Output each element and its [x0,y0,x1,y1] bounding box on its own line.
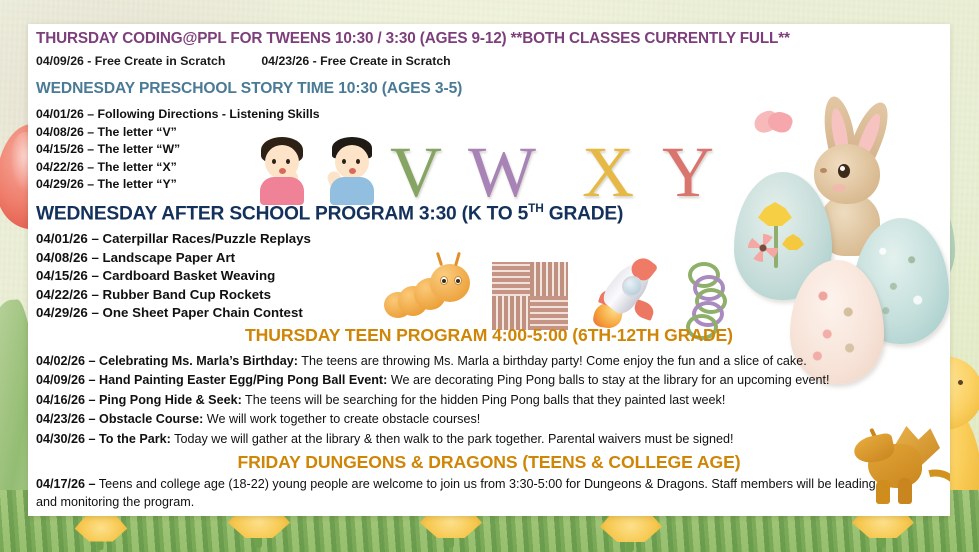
dnd-body-text: Teens and college age (18-22) young peop… [36,477,876,509]
coding-dates-row: 04/09/26 - Free Create in Scratch04/23/2… [36,54,451,68]
list-item-text: We will work together to create obstacle… [203,412,480,426]
list-item-label: 04/30/26 – To the Park: [36,432,171,446]
after-school-heading-post: GRADE) [544,203,624,224]
letter-y-glyph: Y [662,136,714,208]
flyer-content-card: THURSDAY CODING@PPL FOR TWEENS 10:30 / 3… [28,24,950,516]
section-heading-coding: THURSDAY CODING@PPL FOR TWEENS 10:30 / 3… [36,30,940,48]
list-item: 04/29/26 – One Sheet Paper Chain Contest [36,304,311,323]
list-item-label: 04/23/26 – Obstacle Course: [36,412,203,426]
bunny-eye-icon [838,164,850,178]
woven-basket-icon [492,262,568,330]
coding-date-1: 04/09/26 - Free Create in Scratch [36,54,225,68]
list-item: 04/09/26 – Hand Painting Easter Egg/Ping… [36,371,830,390]
list-item: 04/01/26 – Following Directions - Listen… [36,106,320,124]
list-item: 04/15/26 – Cardboard Basket Weaving [36,267,311,286]
alphabet-letters-illustration: V W X Y [390,136,720,208]
listening-kids-illustration [254,137,384,205]
letter-x-glyph: X [582,136,634,208]
coding-date-2: 04/23/26 - Free Create in Scratch [261,54,450,68]
list-item: 04/16/26 – Ping Pong Hide & Seek: The te… [36,391,830,410]
bunny-cheek-icon [832,184,846,192]
list-item: 04/02/26 – Celebrating Ms. Marla’s Birth… [36,352,830,371]
list-item: 04/01/26 – Caterpillar Races/Puzzle Repl… [36,230,311,249]
list-item-text: The teens will be searching for the hidd… [242,393,726,407]
duckling-eye-icon [958,380,963,385]
after-school-heading-superscript: TH [528,201,543,215]
butterfly-icon [754,112,796,142]
list-item-label: 04/09/26 – Hand Painting Easter Egg/Ping… [36,373,387,387]
list-item-text: We are decorating Ping Pong balls to sta… [387,373,829,387]
letter-w-glyph: W [468,136,536,208]
list-item-label: 04/02/26 – Celebrating Ms. Marla’s Birth… [36,354,298,368]
letter-v-glyph: V [390,136,442,208]
list-item-text: Today we will gather at the library & th… [171,432,734,446]
section-heading-teen: THURSDAY TEEN PROGRAM 4:00-5:00 (6TH-12T… [28,325,950,346]
teen-list: 04/02/26 – Celebrating Ms. Marla’s Birth… [36,352,830,449]
section-heading-preschool: WEDNESDAY PRESCHOOL STORY TIME 10:30 (AG… [36,80,462,98]
dragon-leg-icon [898,478,912,504]
list-item-label: 04/16/26 – Ping Pong Hide & Seek: [36,393,242,407]
list-item: 04/22/26 – Rubber Band Cup Rockets [36,286,311,305]
paper-chain-icon [684,262,718,332]
section-heading-after-school: WEDNESDAY AFTER SCHOOL PROGRAM 3:30 (K T… [36,201,623,225]
list-item: 04/30/26 – To the Park: Today we will ga… [36,430,830,449]
bunny-nose-icon [820,168,827,173]
after-school-heading-pre: WEDNESDAY AFTER SCHOOL PROGRAM 3:30 (K T… [36,203,528,224]
list-item: 04/23/26 – Obstacle Course: We will work… [36,410,830,429]
rocket-icon [590,256,666,332]
girl-shushing-icon [254,137,310,205]
dnd-date-label: 04/17/26 – [36,477,96,491]
after-school-list: 04/01/26 – Caterpillar Races/Puzzle Repl… [36,230,311,323]
dnd-body: 04/17/26 – Teens and college age (18-22)… [36,476,896,511]
list-item-text: The teens are throwing Ms. Marla a birth… [298,354,807,368]
list-item: 04/08/26 – Landscape Paper Art [36,249,311,268]
caterpillar-icon [384,262,476,330]
section-heading-dnd: FRIDAY DUNGEONS & DRAGONS (TEENS & COLLE… [28,452,950,473]
boy-listening-icon [324,137,380,205]
